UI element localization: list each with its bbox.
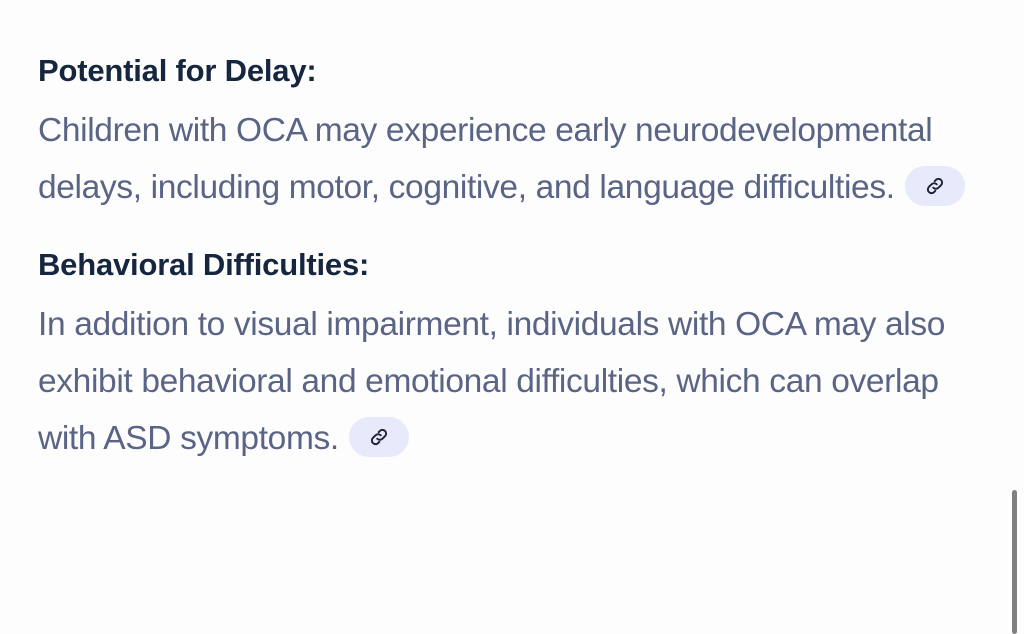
link-icon <box>368 426 390 448</box>
section-body-text-potential-for-delay: Children with OCA may experience early n… <box>38 112 932 206</box>
section-body-behavioral-difficulties: In addition to visual impairment, indivi… <box>38 296 976 467</box>
link-icon <box>924 175 946 197</box>
vertical-scrollbar-thumb[interactable] <box>1012 490 1017 634</box>
section-body-text-behavioral-difficulties: In addition to visual impairment, indivi… <box>38 306 945 457</box>
vertical-scrollbar-track[interactable] <box>1006 0 1024 634</box>
citation-badge-behavioral-difficulties[interactable] <box>349 417 409 457</box>
section-heading-potential-for-delay: Potential for Delay: <box>38 48 976 94</box>
section-potential-for-delay: Potential for Delay: Children with OCA m… <box>38 48 976 216</box>
content-scroll-area[interactable]: Potential for Delay: Children with OCA m… <box>0 0 1024 634</box>
section-behavioral-difficulties: Behavioral Difficulties: In addition to … <box>38 242 976 467</box>
citation-badge-potential-for-delay[interactable] <box>905 166 965 206</box>
section-body-potential-for-delay: Children with OCA may experience early n… <box>38 102 976 216</box>
section-heading-behavioral-difficulties: Behavioral Difficulties: <box>38 242 976 288</box>
